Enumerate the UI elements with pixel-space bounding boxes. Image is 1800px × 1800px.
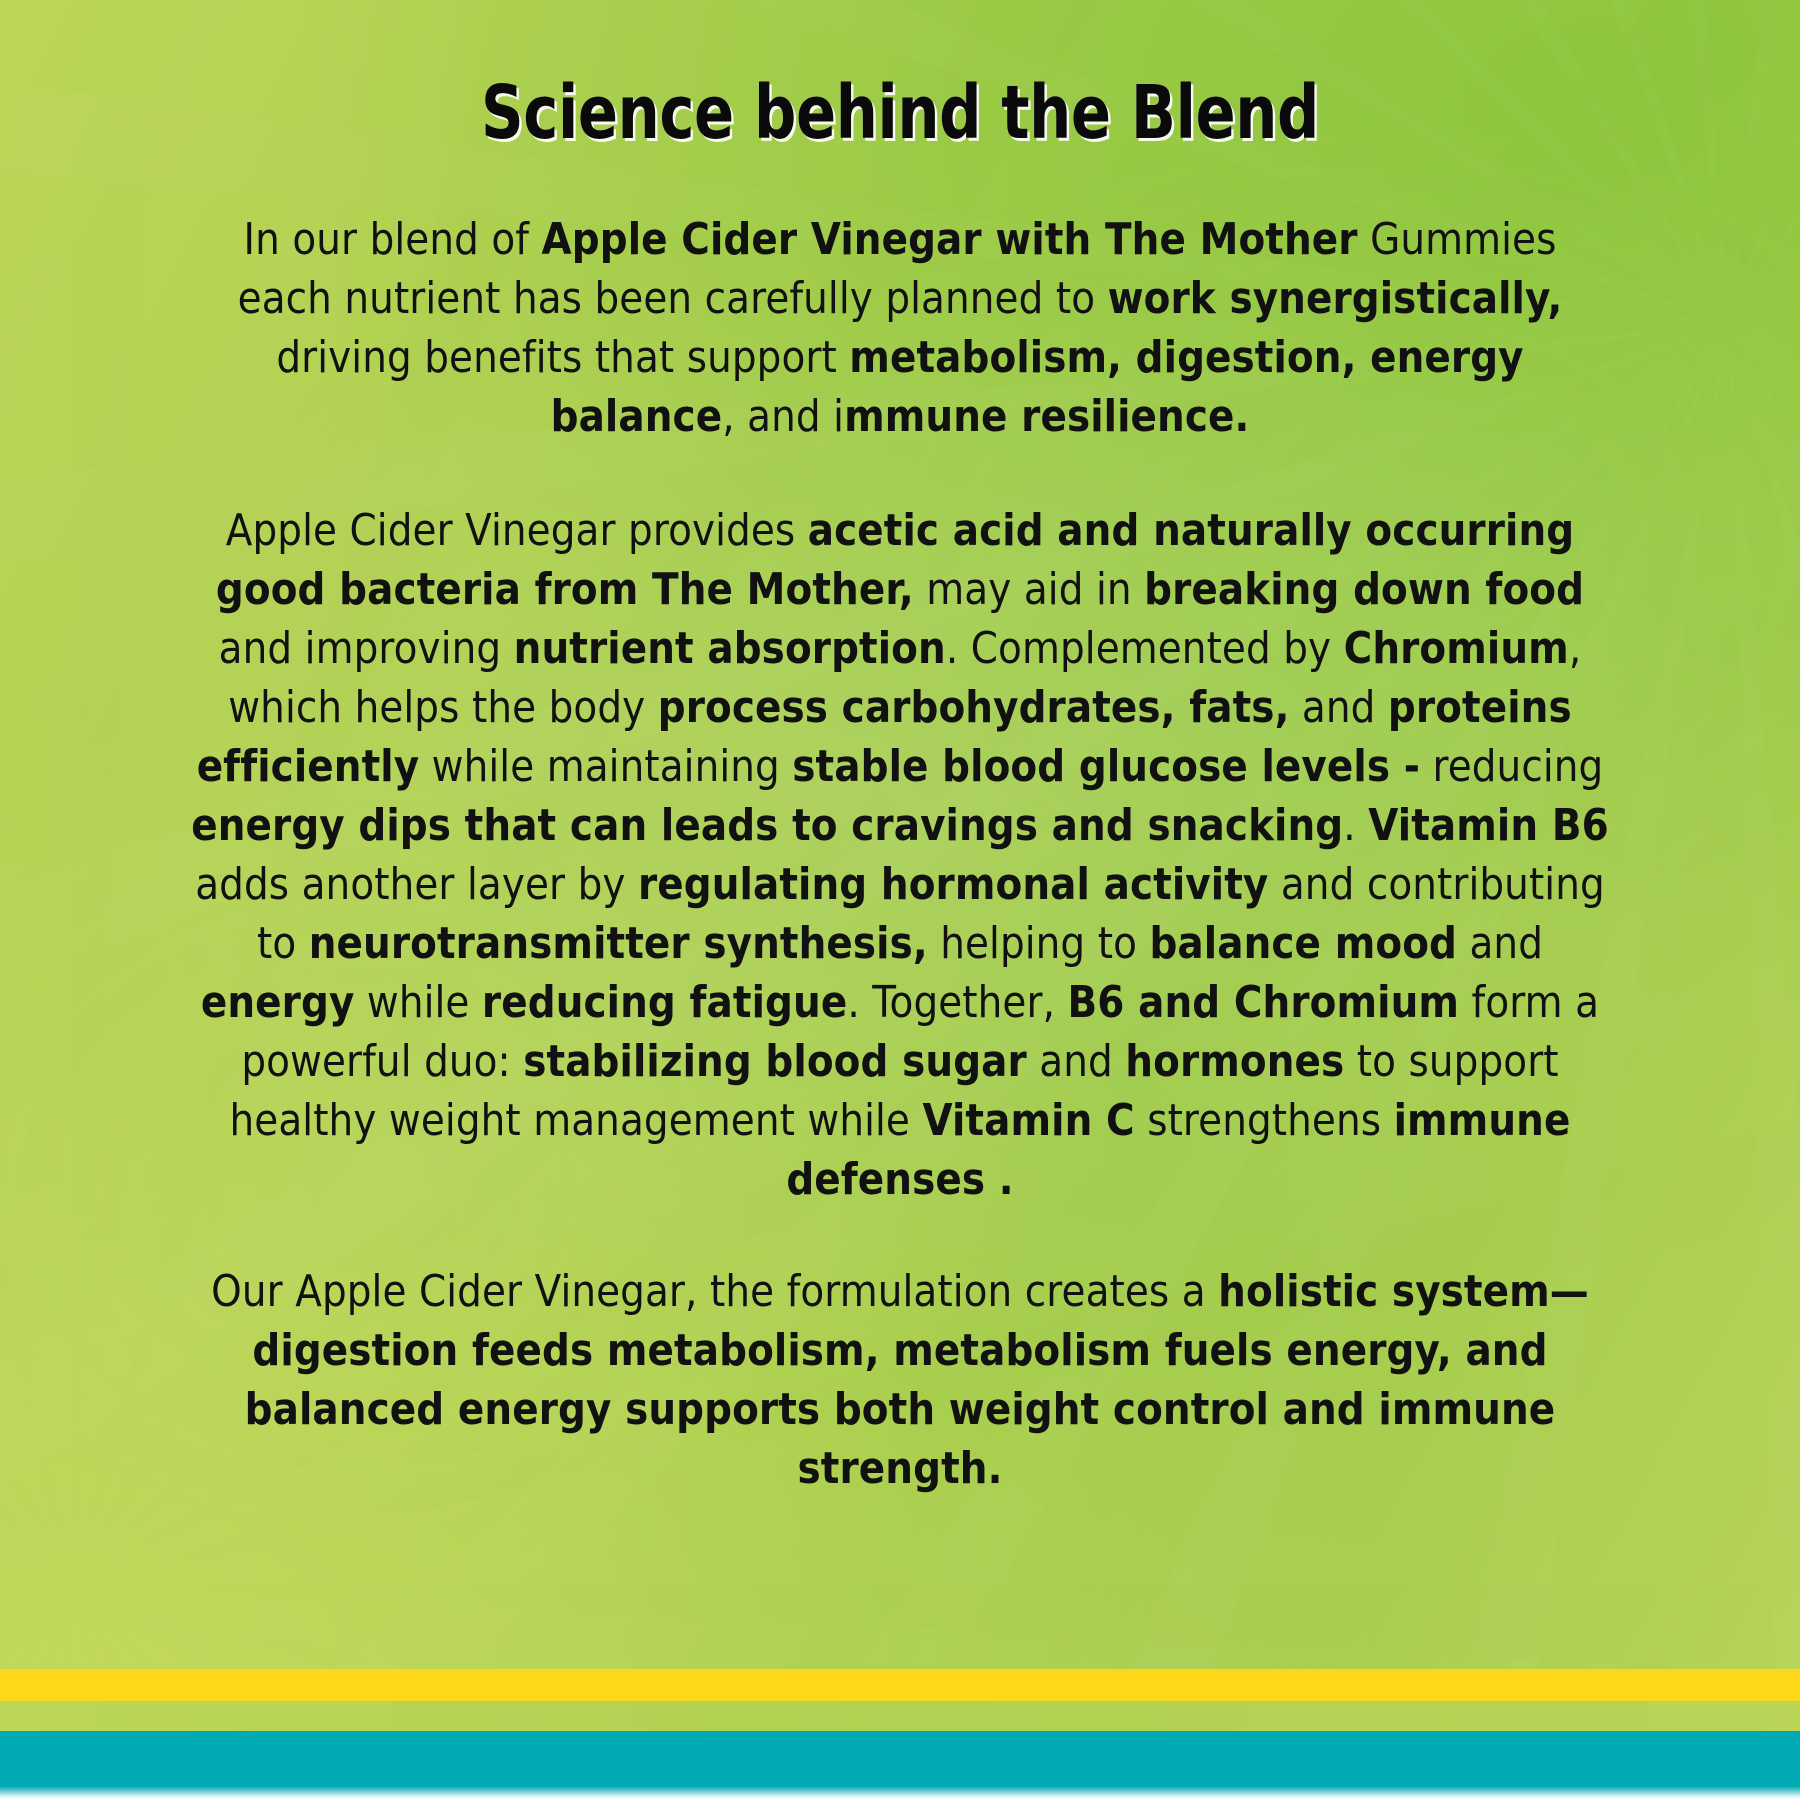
body-text: and xyxy=(1457,918,1543,969)
content-container: Science behind the Blend In our blend of… xyxy=(0,0,1800,1800)
body-text: and improving xyxy=(219,623,514,674)
body-text: and xyxy=(1027,1036,1125,1087)
emphasis-text: Vitamin C xyxy=(922,1095,1134,1146)
emphasis-text: regulating hormonal activity xyxy=(638,859,1268,910)
paragraph-conclusion: Our Apple Cider Vinegar, the formulation… xyxy=(173,1262,1628,1498)
emphasis-text: hormones xyxy=(1125,1036,1344,1087)
body-text: may aid in xyxy=(914,564,1144,615)
body-text: while xyxy=(354,977,482,1028)
accent-bar-yellow xyxy=(0,1669,1800,1701)
emphasis-text: balance mood xyxy=(1149,918,1457,969)
body-text: Apple Cider Vinegar provides xyxy=(226,505,808,556)
body-text: helping to xyxy=(928,918,1150,969)
accent-bar-green-gap xyxy=(0,1701,1800,1731)
accent-bar-teal xyxy=(0,1731,1800,1786)
emphasis-text: work synergistically, xyxy=(1108,273,1563,324)
emphasis-text: stable blood glucose levels - xyxy=(792,741,1420,792)
emphasis-text: process carbohydrates, fats, xyxy=(658,682,1290,733)
body-text: and xyxy=(1289,682,1387,733)
emphasis-text: B6 and Chromium xyxy=(1068,977,1460,1028)
emphasis-text: neurotransmitter synthesis, xyxy=(309,918,928,969)
body-text: . xyxy=(1343,800,1368,851)
body-text: reducing xyxy=(1420,741,1603,792)
emphasis-text: breaking down food xyxy=(1144,564,1584,615)
paragraph-intro: In our blend of Apple Cider Vinegar with… xyxy=(173,210,1628,446)
body-text: In our blend of xyxy=(244,214,542,265)
body-text: Our Apple Cider Vinegar, the formulation… xyxy=(211,1266,1218,1317)
body-text: driving benefits that support xyxy=(276,332,849,383)
paragraph-ingredients: Apple Cider Vinegar provides acetic acid… xyxy=(173,501,1628,1209)
body-text: while maintaining xyxy=(419,741,792,792)
emphasis-text: Chromium xyxy=(1344,623,1569,674)
body-text: strengthens xyxy=(1135,1095,1394,1146)
emphasis-text: reducing fatigue xyxy=(482,977,847,1028)
body-text: adds another layer by xyxy=(195,859,638,910)
body-text: . Together, xyxy=(847,977,1067,1028)
emphasis-text: Vitamin B6 xyxy=(1368,800,1609,851)
body-text: . Complemented by xyxy=(946,623,1344,674)
bottom-fade-edge xyxy=(0,1786,1800,1800)
page-title-text: Science behind the Blend xyxy=(481,70,1319,156)
emphasis-text: Apple Cider Vinegar with The Mother xyxy=(542,214,1358,265)
body-text: , and i xyxy=(722,391,844,442)
emphasis-text: energy dips that can leads to cravings a… xyxy=(191,800,1343,851)
emphasis-text: mmune resilience. xyxy=(844,391,1249,442)
page-title: Science behind the Blend xyxy=(242,74,1557,152)
emphasis-text: nutrient absorption xyxy=(514,623,946,674)
emphasis-text: energy xyxy=(201,977,355,1028)
emphasis-text: stabilizing blood sugar xyxy=(523,1036,1027,1087)
